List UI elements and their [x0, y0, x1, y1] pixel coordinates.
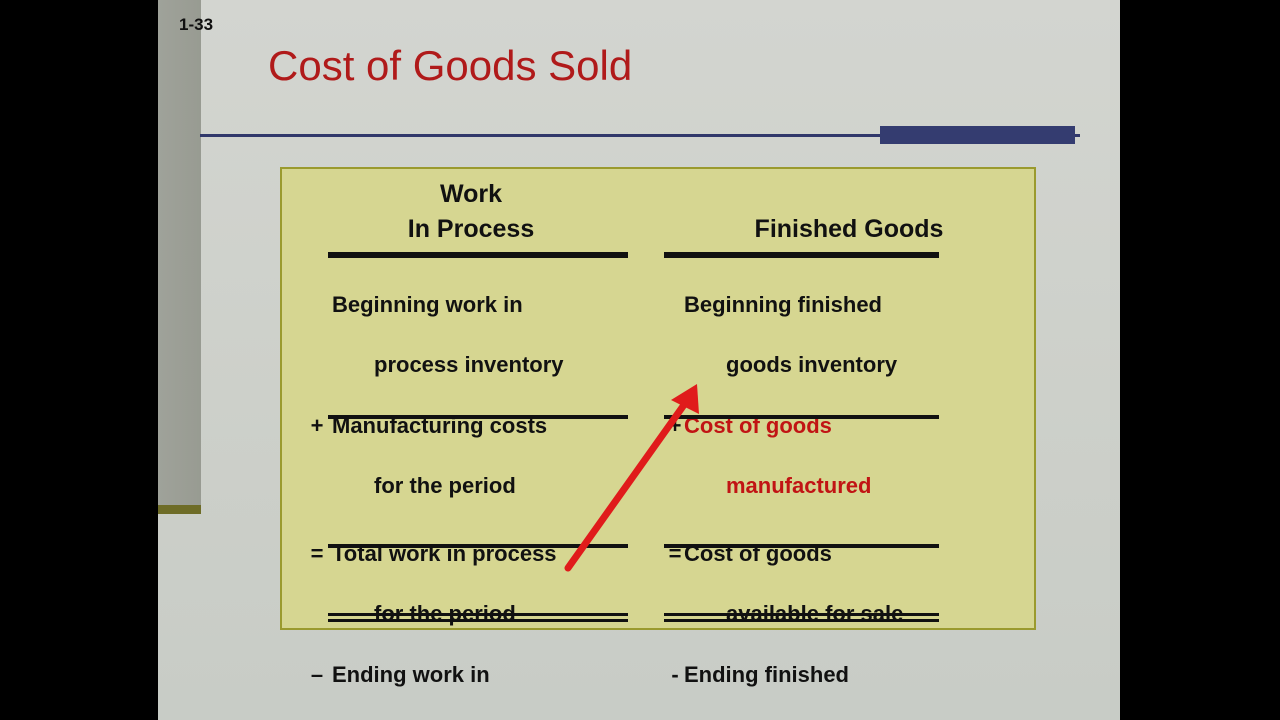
cogs-diagram-panel: Work In Process Beginning work in proces… [280, 167, 1036, 630]
row-operator: – [304, 662, 330, 688]
row-text-line-2: process inventory [332, 352, 564, 378]
table-row-continued: process inventory [282, 352, 660, 382]
work-in-process-rows: Beginning work in process inventory + Ma… [282, 292, 660, 592]
table-row: Beginning finished [660, 292, 1038, 322]
table-row: Beginning work in [282, 292, 660, 322]
table-row: – Ending work in [282, 662, 660, 692]
table-row: - Ending finished [660, 662, 1038, 692]
total-double-rule [664, 613, 939, 622]
table-row-continued: for the period [282, 473, 660, 503]
slide-number: 1-33 [179, 15, 213, 35]
table-row-continued: goods inventory [660, 352, 1038, 382]
row-text-line-2: manufactured [684, 473, 871, 499]
slide-viewer: 1-33 Cost of Goods Sold Work In Process … [0, 0, 1280, 720]
column-heading-rule [328, 252, 628, 258]
row-operator: + [304, 413, 330, 439]
slide-left-accent-band-foot [158, 505, 201, 514]
column-heading-finished-goods: Finished Goods [660, 169, 1038, 247]
page-title: Cost of Goods Sold [268, 42, 632, 90]
row-text-line-2: for the period [332, 473, 516, 499]
column-heading-line-1: Work [282, 177, 660, 212]
row-text-line-1: Ending finished [684, 662, 849, 688]
column-finished-goods: Finished Goods Beginning finished goods … [660, 169, 1038, 628]
row-text-line-2: goods inventory [684, 352, 897, 378]
column-heading-line-2: In Process [282, 212, 660, 247]
column-work-in-process: Work In Process Beginning work in proces… [282, 169, 660, 628]
row-text-line-1: Ending work in [332, 662, 490, 688]
column-heading-line-1: Finished Goods [660, 212, 1038, 247]
slide-left-accent-band [158, 0, 201, 513]
row-text-line-1: Beginning finished [684, 292, 882, 318]
subtotal-rule [664, 415, 939, 419]
title-accent-block [880, 126, 1075, 144]
subtotal-rule [328, 415, 628, 419]
subtotal-rule [328, 544, 628, 548]
row-text-line-1: Beginning work in [332, 292, 523, 318]
finished-goods-rows: Beginning finished goods inventory + Cos… [660, 292, 1038, 592]
table-row-continued: manufactured [660, 473, 1038, 503]
column-heading-work-in-process: Work In Process [282, 169, 660, 247]
subtotal-rule [664, 544, 939, 548]
total-double-rule [328, 613, 628, 622]
presentation-slide: 1-33 Cost of Goods Sold Work In Process … [158, 0, 1120, 720]
row-operator: = [304, 541, 330, 567]
column-heading-rule [664, 252, 939, 258]
